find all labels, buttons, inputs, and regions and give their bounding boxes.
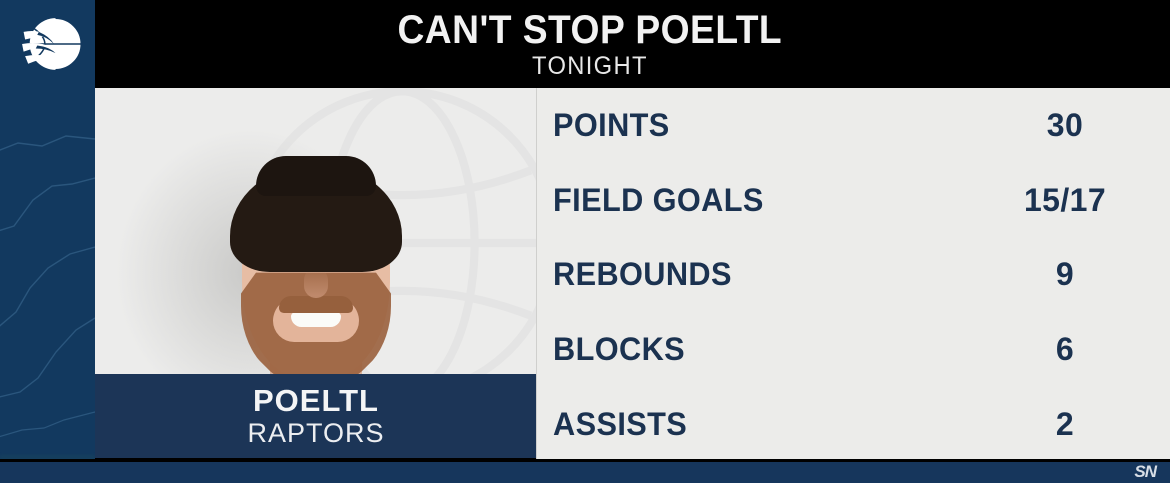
sportsnet-watermark: SN <box>1134 462 1156 482</box>
stat-row: FIELD GOALS15/17 <box>553 163 1170 237</box>
stat-row: POINTS30 <box>553 88 1170 162</box>
player-team: RAPTORS <box>247 420 384 447</box>
stat-value: 30 <box>960 107 1170 144</box>
broadcast-graphic: CAN'T STOP POELTL TONIGHT <box>0 0 1170 483</box>
player-nameplate: POELTL RAPTORS <box>95 374 537 458</box>
stat-value: 2 <box>960 406 1170 443</box>
stat-label: ASSISTS <box>553 406 944 443</box>
player-name: POELTL <box>253 385 379 416</box>
headline: CAN'T STOP POELTL <box>397 10 782 50</box>
title-block: CAN'T STOP POELTL TONIGHT <box>95 0 1170 88</box>
stat-label: BLOCKS <box>553 331 944 368</box>
raptors-logo-icon <box>16 6 92 82</box>
subheadline: TONIGHT <box>532 54 648 79</box>
footer-bar: SN <box>0 462 1170 483</box>
stat-row: REBOUNDS9 <box>553 238 1170 312</box>
header-bar: CAN'T STOP POELTL TONIGHT <box>95 0 1170 88</box>
stat-value: 9 <box>960 256 1170 293</box>
left-navy-rail <box>0 0 95 483</box>
stat-label: POINTS <box>553 107 944 144</box>
stat-value: 6 <box>960 331 1170 368</box>
stat-label: FIELD GOALS <box>553 182 944 219</box>
stat-label: REBOUNDS <box>553 256 944 293</box>
stat-value: 15/17 <box>960 182 1170 219</box>
stat-row: BLOCKS6 <box>553 313 1170 387</box>
stat-row: ASSISTS2 <box>553 388 1170 462</box>
stats-panel: POINTS30FIELD GOALS15/17REBOUNDS9BLOCKS6… <box>537 88 1170 462</box>
